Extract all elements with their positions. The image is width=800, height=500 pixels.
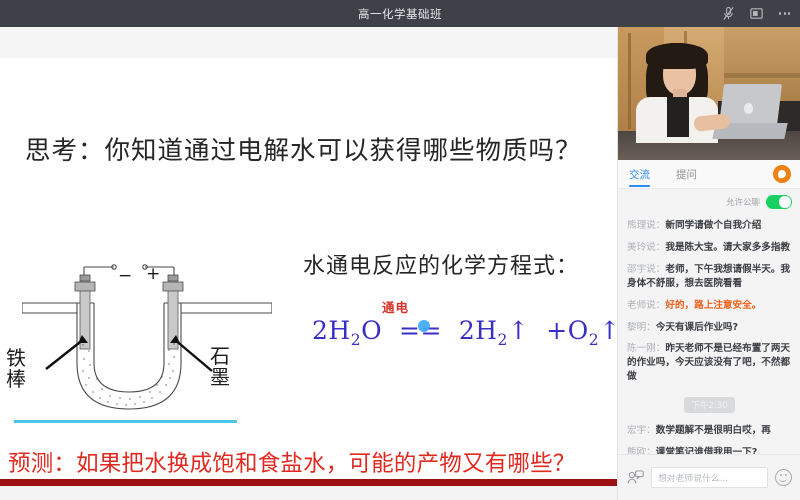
raise-hand-icon[interactable]: [773, 165, 791, 183]
public-chat-toggle[interactable]: [766, 195, 792, 209]
equation-product-oxygen: +O2↑: [546, 316, 617, 345]
chat-time-label: 下午2:30: [684, 397, 734, 413]
chat-message: 陈一刚：昨天老师不是已经布置了两天的作业吗，今天应该没有了吧，不然都做: [627, 342, 792, 384]
pointer-dot-annotation: [418, 320, 430, 332]
title-bar: 高一化学基础班: [0, 0, 800, 27]
whiteboard-icon[interactable]: [749, 6, 764, 21]
chat-text: 数学题解不是很明白哎，再: [656, 425, 771, 436]
chat-message: 宏宇：数学题解不是很明白哎，再: [627, 424, 792, 438]
public-chat-toggle-label: 允许公聊: [726, 196, 760, 208]
page-title: 高一化学基础班: [358, 6, 442, 22]
chat-message-list[interactable]: 熊理说：新同学请做个自我介绍 美玲说：我是陈大宝。请大家多多指教 邵宇说：老师，…: [618, 215, 800, 467]
person-message-icon[interactable]: [627, 470, 644, 485]
slide-bottom-accent-bar: [0, 479, 617, 486]
chat-author: 黎明：: [627, 322, 656, 333]
panel-tabs: 交流 提问: [618, 160, 800, 189]
chat-input-field[interactable]: 想对老师说什么...: [651, 467, 768, 488]
tab-chat[interactable]: 交流: [629, 160, 650, 189]
tab-questions[interactable]: 提问: [676, 160, 697, 189]
equation-reactant: 2H2O: [312, 316, 382, 345]
emoji-icon[interactable]: [775, 469, 792, 486]
chat-message: 邵宇说：老师，下午我想请假半天。我身体不舒服，想去医院看看: [627, 263, 792, 291]
chat-input-placeholder: 想对老师说什么...: [658, 471, 728, 484]
presentation-stage: 思考：你知道通过电解水可以获得哪些物质吗？: [0, 27, 617, 500]
public-chat-toggle-row: 允许公聊: [618, 189, 800, 215]
title-bar-actions: [721, 0, 792, 27]
chat-text: 我是陈大宝。请大家多多指教: [665, 242, 790, 253]
meeting-window: 高一化学基础班 思考：你知道通过电解水可以获得哪些: [0, 0, 800, 500]
chemical-equation: 2H2O == 2H2↑ +O2↑: [312, 316, 617, 349]
slide-top-strip: [0, 27, 617, 58]
chat-message: 美玲说：我是陈大宝。请大家多多指教: [627, 241, 792, 255]
terminal-positive-label: +: [146, 264, 160, 284]
stage-bottom-bar: 100%: [0, 486, 617, 500]
chat-message: 熊理说：新同学请做个自我介绍: [627, 219, 792, 233]
more-options-icon[interactable]: [777, 6, 792, 21]
equation-product-hydrogen: 2H2↑: [459, 316, 530, 345]
chat-text: 好的，路上注意安全。: [665, 300, 761, 311]
chat-text: 今天有课后作业吗?: [656, 322, 738, 333]
chat-author: 老师说：: [627, 300, 665, 311]
chat-message-teacher: 老师说：好的，路上注意安全。: [627, 299, 792, 313]
mic-off-icon[interactable]: [721, 6, 736, 21]
equation-heading: 水通电反应的化学方程式：: [303, 248, 579, 280]
slide-question-title: 思考：你知道通过电解水可以获得哪些物质吗？: [25, 130, 582, 167]
chat-author: 陈一刚：: [627, 343, 665, 354]
equation-condition-label: 通电: [382, 297, 409, 316]
side-panel: 交流 提问 允许公聊 熊理说：新同学请做个自我介绍 美玲说：我是陈大宝。请大家多…: [617, 27, 800, 500]
slide-prediction-text: 预测：如果把水换成饱和食盐水，可能的产物又有哪些？: [8, 446, 576, 478]
chat-author: 宏宇：: [627, 425, 656, 436]
slide-cyan-rule: [14, 420, 237, 423]
terminal-negative-label: −: [118, 266, 132, 286]
diagram-label-graphite: 石墨: [210, 346, 236, 388]
chat-author: 邵宇说：: [627, 264, 665, 275]
chat-message: 黎明：今天有课后作业吗?: [627, 321, 792, 335]
teacher-video-feed[interactable]: [618, 27, 800, 160]
chat-input-bar: 想对老师说什么...: [618, 454, 800, 500]
slide-canvas[interactable]: 思考：你知道通过电解水可以获得哪些物质吗？: [0, 58, 617, 479]
chat-text: 新同学请做个自我介绍: [665, 220, 761, 231]
chat-author: 熊理说：: [627, 220, 665, 231]
diagram-label-iron-rod: 铁棒: [6, 348, 32, 390]
chat-author: 美玲说：: [627, 242, 665, 253]
chat-time-divider: 下午2:30: [627, 393, 792, 413]
